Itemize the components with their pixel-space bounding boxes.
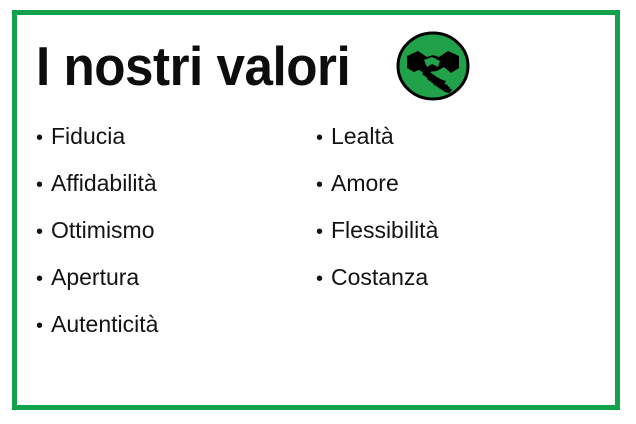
slide-header: I nostri valori xyxy=(36,24,596,108)
bullet-icon: • xyxy=(36,265,51,293)
bullet-icon: • xyxy=(36,124,51,152)
bullet-icon: • xyxy=(316,265,331,293)
value-label: Affidabilità xyxy=(51,169,157,197)
list-item: • Fiducia xyxy=(36,122,316,169)
value-label: Ottimismo xyxy=(51,216,155,244)
list-item: • Lealtà xyxy=(316,122,588,169)
list-item: • Autenticità xyxy=(36,310,316,357)
value-label: Fiducia xyxy=(51,122,125,150)
bullet-icon: • xyxy=(316,218,331,246)
bullet-icon: • xyxy=(36,312,51,340)
page-title: I nostri valori xyxy=(36,39,350,94)
value-label: Costanza xyxy=(331,263,428,291)
value-label: Flessibilità xyxy=(331,216,438,244)
value-label: Amore xyxy=(331,169,399,197)
bullet-icon: • xyxy=(316,171,331,199)
values-column-left: • Fiducia • Affidabilità • Ottimismo • A… xyxy=(36,122,316,357)
value-label: Lealtà xyxy=(331,122,394,150)
list-item: • Costanza xyxy=(316,263,588,310)
bullet-icon: • xyxy=(36,218,51,246)
value-label: Apertura xyxy=(51,263,139,291)
values-slide: I nostri valori • Fiducia • Affidabilità xyxy=(0,0,636,424)
value-label: Autenticità xyxy=(51,310,158,338)
values-column-right: • Lealtà • Amore • Flessibilità • Costan… xyxy=(316,122,588,310)
list-item: • Affidabilità xyxy=(36,169,316,216)
values-columns: • Fiducia • Affidabilità • Ottimismo • A… xyxy=(36,122,598,357)
handshake-icon xyxy=(396,31,470,101)
list-item: • Flessibilità xyxy=(316,216,588,263)
list-item: • Apertura xyxy=(36,263,316,310)
bullet-icon: • xyxy=(36,171,51,199)
bullet-icon: • xyxy=(316,124,331,152)
list-item: • Amore xyxy=(316,169,588,216)
list-item: • Ottimismo xyxy=(36,216,316,263)
